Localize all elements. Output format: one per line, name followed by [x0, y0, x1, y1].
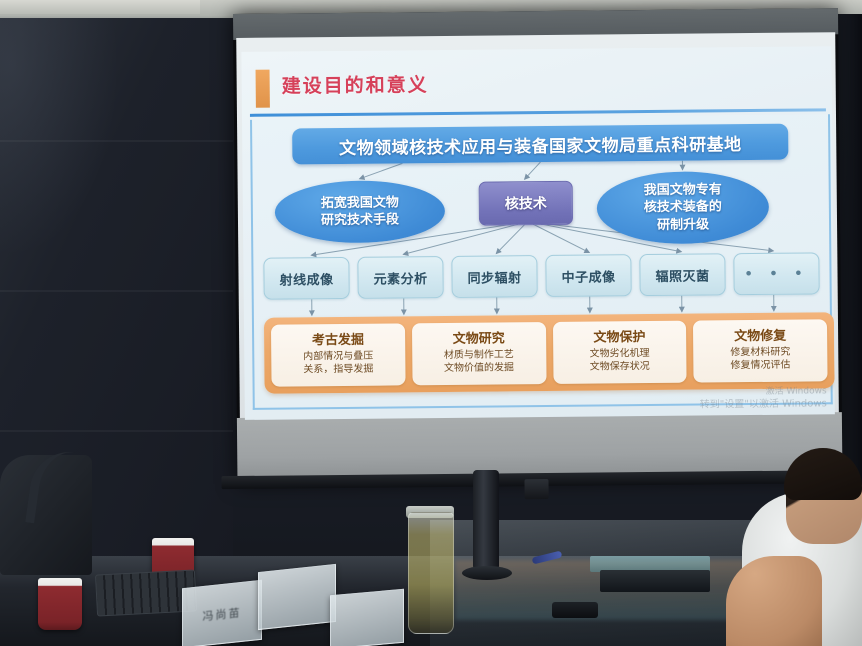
core-technology-label: 核技术: [505, 193, 547, 213]
application-title: 文物保护: [593, 331, 645, 346]
nameplate: 冯尚苗: [182, 580, 262, 646]
application-card: 考古发掘 内部情况与叠压关系，指导发掘: [271, 323, 405, 386]
tech-label: 辐照灭菌: [655, 265, 709, 285]
application-band: 考古发掘 内部情况与叠压关系，指导发掘 文物研究 材质与制作工艺文物价值的发掘 …: [264, 312, 835, 393]
application-title: 文物研究: [453, 332, 505, 347]
microphone-base: [462, 566, 512, 580]
tech-box: 元素分析: [357, 256, 443, 299]
tech-ellipsis-label: • • •: [744, 266, 808, 282]
presentation-slide: 建设目的和意义: [241, 46, 835, 420]
tech-label: 中子成像: [561, 266, 615, 286]
notebook: [600, 570, 710, 592]
nameplate-text: [331, 590, 403, 646]
slide-title-row: 建设目的和意义: [256, 64, 816, 107]
tech-box: 中子成像: [545, 254, 631, 297]
core-technology-node: 核技术: [479, 181, 573, 226]
tech-label: 同步辐射: [467, 267, 521, 287]
tech-box-ellipsis: • • •: [733, 252, 819, 295]
conference-room-scene: 建设目的和意义: [0, 0, 862, 646]
goal-node-left: 拓宽我国文物研究技术手段: [275, 180, 446, 244]
nameplate-text: [259, 565, 335, 629]
title-accent-bar: [256, 70, 270, 108]
goal-node-right: 我国文物专有核技术装备的研制升级: [597, 171, 770, 245]
goal-node-left-label: 拓宽我国文物研究技术手段: [321, 194, 399, 229]
paper-cup: [38, 578, 82, 630]
wall-light-glow: [0, 18, 120, 258]
application-desc: 修复材料研究修复情况评估: [730, 346, 790, 373]
wall-seam: [0, 430, 233, 432]
tech-box: 射线成像: [263, 257, 349, 300]
application-title: 考古发掘: [312, 333, 364, 348]
diagram-panel: 文物领域核技术应用与装备国家文物局重点科研基地 拓宽我国文物研究技术手段 核技术…: [250, 114, 833, 410]
slide-title: 建设目的和意义: [282, 70, 429, 98]
application-desc: 内部情况与叠压关系，指导发掘: [303, 350, 373, 377]
windows-activation-watermark: 激活 Windows 转到"设置"以激活 Windows: [700, 387, 827, 412]
glass-tea-jar: [408, 512, 454, 634]
ceiling-edge: [0, 0, 200, 14]
application-card: 文物研究 材质与制作工艺文物价值的发掘: [412, 322, 546, 385]
projection-screen: 建设目的和意义: [233, 8, 842, 484]
phone: [552, 602, 598, 618]
tech-box: 同步辐射: [451, 255, 537, 298]
application-card: 文物修复 修复材料研究修复情况评估: [693, 319, 827, 382]
application-desc: 文物劣化机理文物保存状况: [590, 347, 650, 374]
wall-seam: [0, 290, 233, 292]
tech-box: 辐照灭菌: [639, 253, 725, 296]
nameplate-text: 冯尚苗: [183, 581, 261, 646]
screen-pull-knob[interactable]: [524, 479, 548, 499]
nameplate: [330, 589, 404, 646]
base-header-label: 文物领域核技术应用与装备国家文物局重点科研基地: [339, 130, 742, 159]
goal-node-right-label: 我国文物专有核技术装备的研制升级: [644, 182, 723, 234]
tech-label: 射线成像: [279, 269, 333, 289]
application-card: 文物保护 文物劣化机理文物保存状况: [552, 321, 686, 384]
watermark-line-2: 转到"设置"以激活 Windows: [700, 398, 827, 412]
base-header-box: 文物领域核技术应用与装备国家文物局重点科研基地: [292, 124, 788, 165]
microphone[interactable]: [473, 470, 499, 570]
application-desc: 材质与制作工艺文物价值的发掘: [444, 349, 514, 376]
technology-row: 射线成像 元素分析 同步辐射 中子成像 辐照灭菌 • • •: [263, 252, 819, 299]
application-title: 文物修复: [734, 329, 786, 344]
watermark-line-1: 激活 Windows: [700, 387, 827, 399]
tech-label: 元素分析: [373, 268, 427, 288]
nameplate: [258, 564, 336, 630]
attendee-arm: [726, 556, 822, 646]
